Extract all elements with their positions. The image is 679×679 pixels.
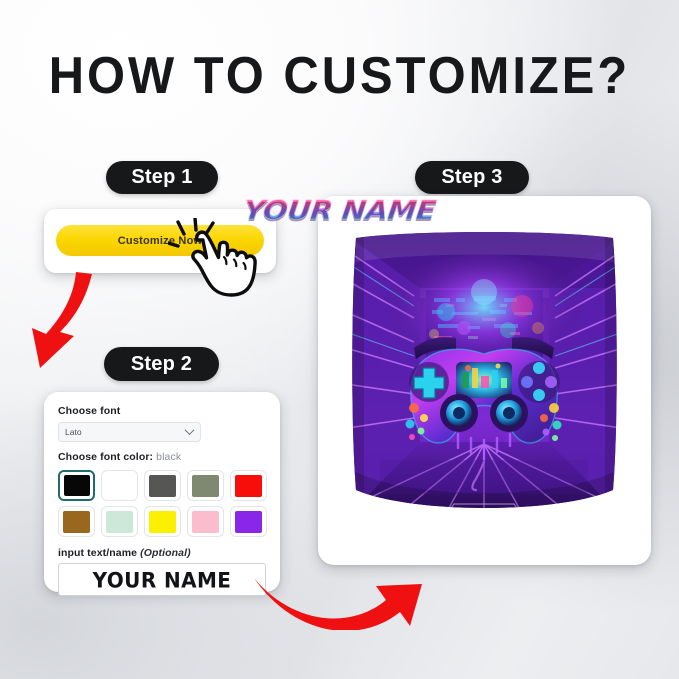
swatch-fill-dark-gray <box>149 475 176 497</box>
swatch-fill-white <box>106 475 133 497</box>
choose-font-color-text: Choose font color: <box>58 451 153 463</box>
color-swatch-sage-green[interactable] <box>187 470 224 501</box>
name-text-input[interactable]: YOUR NAME <box>58 563 266 596</box>
color-swatch-yellow[interactable] <box>144 506 181 537</box>
font-select-value: Lato <box>65 427 82 437</box>
how-to-customize-infographic: HOW TO CUSTOMIZE? Step 1 Customize Now S… <box>0 0 679 679</box>
color-swatch-pink[interactable] <box>187 506 224 537</box>
swatch-fill-red <box>235 475 262 497</box>
color-swatch-purple[interactable] <box>230 506 267 537</box>
choose-font-color-label: Choose font color: black <box>58 451 266 463</box>
swatch-fill-black <box>64 475 90 496</box>
step-1-badge: Step 1 <box>106 161 218 194</box>
color-swatch-mint[interactable] <box>101 506 138 537</box>
name-text-input-value: YOUR NAME <box>93 567 232 593</box>
customizer-panel: Choose font Lato Choose font color: blac… <box>44 392 280 592</box>
pointing-hand-cursor-icon <box>168 218 272 302</box>
choose-font-label: Choose font <box>58 405 266 417</box>
color-swatch-red[interactable] <box>230 470 267 501</box>
step-3-badge: Step 3 <box>415 161 529 194</box>
step-2-card: Choose font Lato Choose font color: blac… <box>44 392 280 592</box>
swatch-fill-pink <box>192 511 219 533</box>
input-text-name-label: input text/name (Optional) <box>58 547 266 559</box>
color-swatch-brown[interactable] <box>58 506 95 537</box>
color-swatch-white[interactable] <box>101 470 138 501</box>
color-swatch-grid <box>58 470 266 537</box>
product-preview-blanket <box>342 232 627 530</box>
color-swatch-black[interactable] <box>58 470 95 501</box>
blanket-artwork <box>342 232 627 530</box>
page-title: HOW TO CUSTOMIZE? <box>20 46 658 106</box>
input-text-name-text: input text/name <box>58 547 137 559</box>
step-2-badge: Step 2 <box>104 347 219 381</box>
swatch-fill-sage-green <box>192 475 219 497</box>
selected-color-value: black <box>156 451 181 463</box>
chevron-down-icon <box>185 425 195 435</box>
color-swatch-dark-gray[interactable] <box>144 470 181 501</box>
dpad-icon <box>409 362 449 402</box>
face-buttons <box>518 361 560 403</box>
swatch-fill-brown <box>63 511 90 533</box>
input-optional-text: (Optional) <box>140 547 191 559</box>
swatch-fill-mint <box>106 511 133 533</box>
swatch-fill-purple <box>235 511 262 533</box>
font-select[interactable]: Lato <box>58 422 201 442</box>
swatch-fill-yellow <box>149 511 176 533</box>
